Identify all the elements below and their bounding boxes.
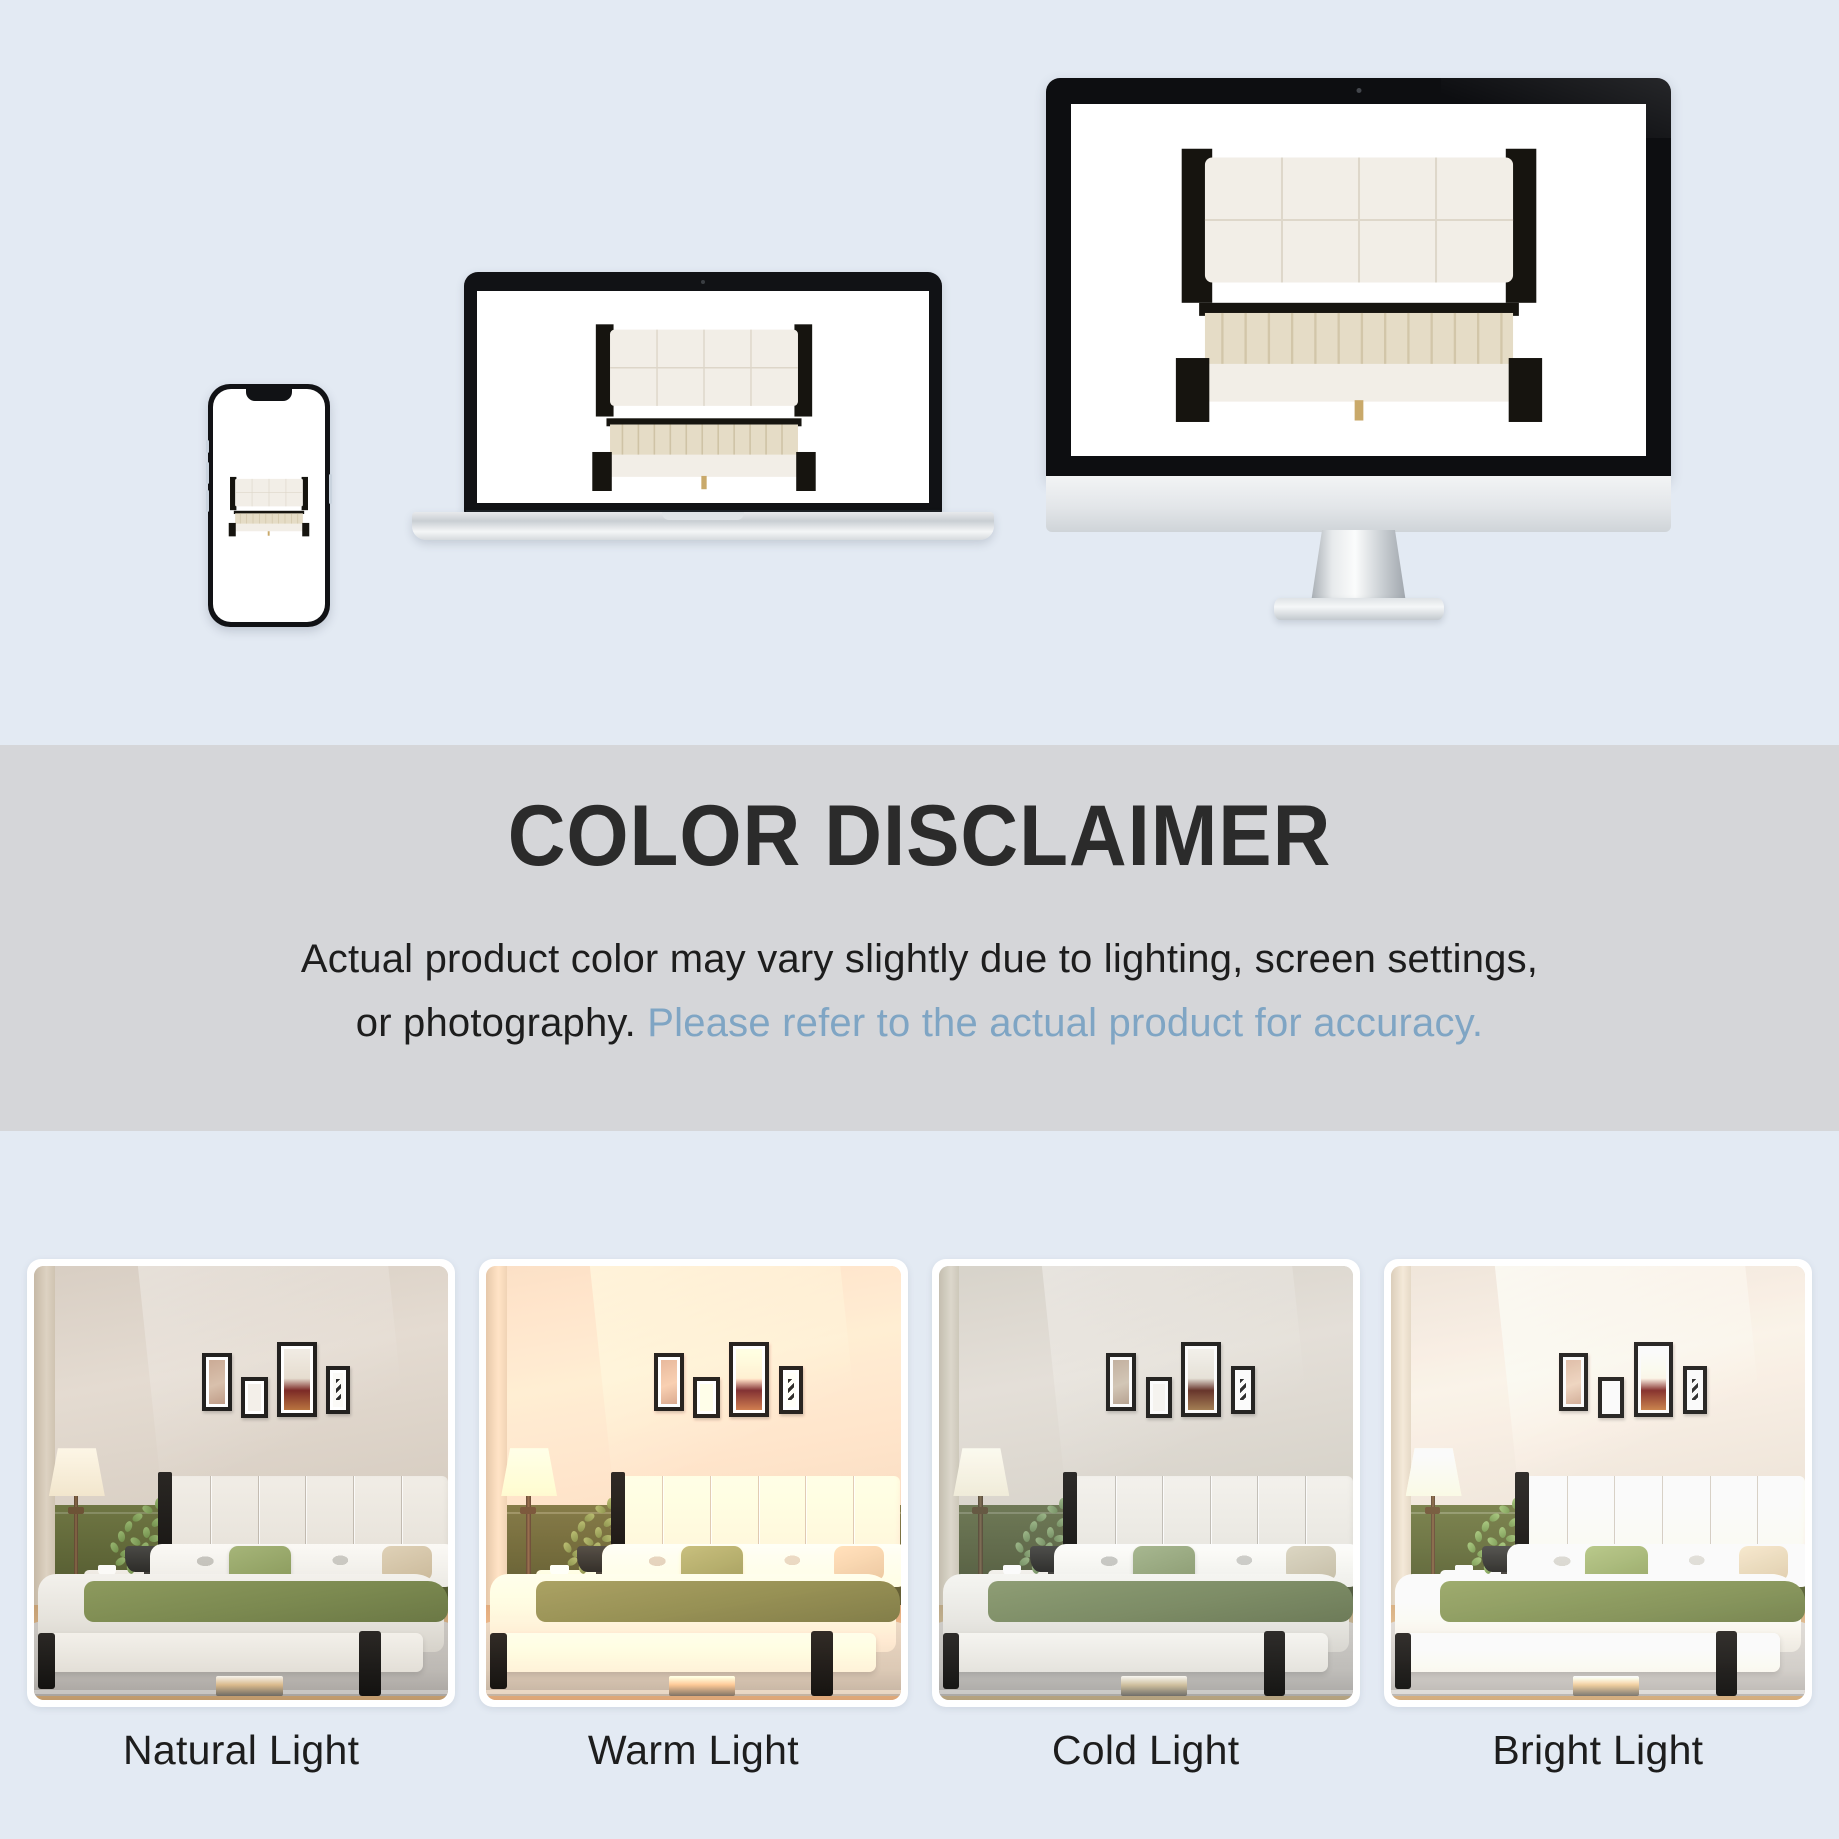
bedroom-photo-cold bbox=[939, 1266, 1353, 1700]
smartphone-mockup bbox=[208, 384, 330, 627]
bedroom-photo-bright bbox=[1391, 1266, 1805, 1700]
device-mockups-section bbox=[0, 0, 1839, 745]
scene-caption-bright: Bright Light bbox=[1384, 1727, 1812, 1774]
wall-art-frame bbox=[693, 1377, 720, 1418]
wall-art-frame bbox=[1146, 1377, 1173, 1418]
bed-leg bbox=[359, 1631, 381, 1696]
phone-volume-down-button bbox=[206, 490, 209, 512]
scene-caption-warm: Warm Light bbox=[479, 1727, 907, 1774]
wall-art-frame bbox=[1559, 1353, 1589, 1412]
floor-lamp bbox=[953, 1448, 1009, 1496]
phone-power-button bbox=[329, 474, 332, 504]
disclaimer-title: COLOR DISCLAIMER bbox=[64, 793, 1774, 879]
wall-art-frame bbox=[202, 1353, 232, 1412]
disclaimer-line-1: Actual product color may vary slightly d… bbox=[0, 927, 1839, 991]
books-on-rug bbox=[669, 1676, 735, 1696]
scene-caption-natural: Natural Light bbox=[27, 1727, 455, 1774]
disclaimer-line-2-accent: Please refer to the actual product for a… bbox=[647, 1001, 1483, 1045]
disclaimer-line-2-plain: or photography. bbox=[356, 1001, 648, 1045]
laptop-mockup bbox=[412, 272, 994, 544]
bed-product-image-monitor bbox=[1141, 140, 1577, 422]
scene-card-natural[interactable] bbox=[27, 1259, 455, 1707]
bed-leg bbox=[943, 1633, 960, 1689]
wall-art-frame bbox=[1634, 1342, 1674, 1418]
color-disclaimer-page: COLOR DISCLAIMER Actual product color ma… bbox=[0, 0, 1839, 1839]
phone-volume-up-button bbox=[206, 462, 209, 484]
phone-notch bbox=[246, 389, 292, 401]
books-on-rug bbox=[1573, 1676, 1639, 1696]
monitor-stand-base bbox=[1274, 598, 1444, 620]
scene-caption-row: Natural Light Warm Light Cold Light Brig… bbox=[27, 1727, 1812, 1774]
wall-art-frame bbox=[654, 1353, 684, 1412]
wall-art-frame bbox=[241, 1377, 268, 1418]
bed-product-image-phone bbox=[221, 475, 317, 537]
scene-card-cold[interactable] bbox=[932, 1259, 1360, 1707]
laptop-screen bbox=[477, 291, 929, 503]
wall-art-frame bbox=[326, 1366, 350, 1414]
bed-leg bbox=[38, 1633, 55, 1689]
bed-leg bbox=[1395, 1633, 1412, 1689]
scene-caption-cold: Cold Light bbox=[932, 1727, 1360, 1774]
bed-leg bbox=[1716, 1631, 1738, 1696]
books-on-rug bbox=[216, 1676, 282, 1696]
floor-lamp bbox=[1406, 1448, 1462, 1496]
bed-leg bbox=[811, 1631, 833, 1696]
monitor-bezel bbox=[1046, 78, 1671, 480]
light-comparison-section: Natural Light Warm Light Cold Light Brig… bbox=[0, 1131, 1839, 1839]
laptop-lid bbox=[464, 272, 942, 514]
bed-leg bbox=[490, 1633, 507, 1689]
monitor-stand-neck bbox=[1311, 530, 1407, 606]
wall-art-frame bbox=[1598, 1377, 1625, 1418]
wall-art-frame bbox=[779, 1366, 803, 1414]
wall-art-frame bbox=[729, 1342, 769, 1418]
wall-art-frame bbox=[1231, 1366, 1255, 1414]
bed-throw-blanket bbox=[988, 1581, 1353, 1622]
bed-leg bbox=[1264, 1631, 1286, 1696]
scene-card-warm[interactable] bbox=[479, 1259, 907, 1707]
bed-throw-blanket bbox=[536, 1581, 901, 1622]
bedroom-photo-natural bbox=[34, 1266, 448, 1700]
floor-lamp bbox=[501, 1448, 557, 1496]
laptop-camera-icon bbox=[701, 280, 705, 284]
bed-throw-blanket bbox=[1440, 1581, 1805, 1622]
monitor-camera-icon bbox=[1356, 88, 1361, 93]
disclaimer-body: Actual product color may vary slightly d… bbox=[0, 927, 1839, 1055]
bed-product-image-laptop bbox=[531, 319, 877, 491]
bed-throw-blanket bbox=[84, 1581, 449, 1622]
wall-art-frame bbox=[1106, 1353, 1136, 1412]
floor-lamp bbox=[49, 1448, 105, 1496]
books-on-rug bbox=[1121, 1676, 1187, 1696]
desktop-monitor-mockup bbox=[1046, 78, 1671, 648]
wall-art-frame bbox=[1683, 1366, 1707, 1414]
disclaimer-section: COLOR DISCLAIMER Actual product color ma… bbox=[0, 745, 1839, 1131]
scene-card-row bbox=[27, 1259, 1812, 1707]
scene-card-bright[interactable] bbox=[1384, 1259, 1812, 1707]
monitor-screen bbox=[1071, 104, 1646, 456]
disclaimer-line-2: or photography. Please refer to the actu… bbox=[0, 991, 1839, 1055]
laptop-base bbox=[412, 512, 994, 540]
phone-screen bbox=[213, 389, 325, 622]
phone-mute-switch bbox=[206, 440, 209, 453]
wall-art-frame bbox=[277, 1342, 317, 1418]
monitor-chin bbox=[1046, 476, 1671, 532]
wall-art-frame bbox=[1181, 1342, 1221, 1418]
bedroom-photo-warm bbox=[486, 1266, 900, 1700]
